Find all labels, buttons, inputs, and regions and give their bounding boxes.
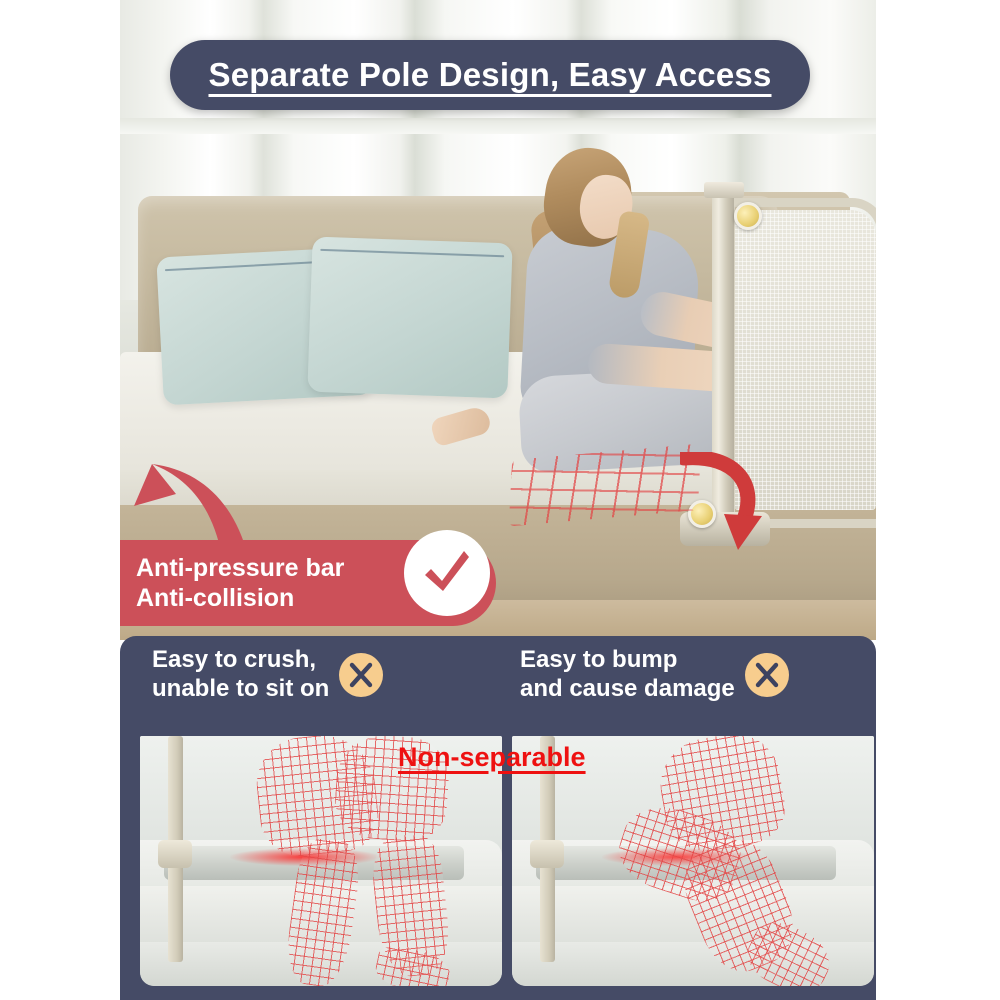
pillow (307, 237, 512, 399)
comparison-image-crush (140, 736, 502, 986)
bed-rail-pole-cap (704, 182, 744, 198)
x-mark-icon (745, 653, 789, 697)
x-mark-icon (339, 653, 383, 697)
comparison-heading-text: Easy to crush, unable to sit on (152, 646, 329, 704)
page-title-banner: Separate Pole Design, Easy Access (170, 40, 810, 110)
x-glyph-icon (752, 660, 782, 690)
cmp-rail-joint (158, 840, 192, 868)
comparison-panel: Easy to crush, unable to sit on Easy to … (120, 636, 876, 1000)
infographic-page: Separate Pole Design, Easy Access Anti-p… (0, 0, 1000, 1000)
curved-down-arrow-icon (680, 452, 770, 552)
check-circle-icon (404, 530, 490, 616)
comparison-heading-right: Easy to bump and cause damage (520, 646, 789, 704)
comparison-heading-left: Easy to crush, unable to sit on (152, 646, 383, 704)
feature-banner-text: Anti-pressure bar Anti-collision (120, 553, 344, 614)
non-separable-label: Non-separable (398, 742, 586, 773)
comparison-image-bump (512, 736, 874, 986)
page-title: Separate Pole Design, Easy Access (208, 56, 771, 94)
x-glyph-icon (346, 660, 376, 690)
check-icon (417, 543, 477, 603)
cmp-rail-joint (530, 840, 564, 868)
adjustment-knob-icon (734, 202, 762, 230)
comparison-heading-text: Easy to bump and cause damage (520, 646, 735, 704)
